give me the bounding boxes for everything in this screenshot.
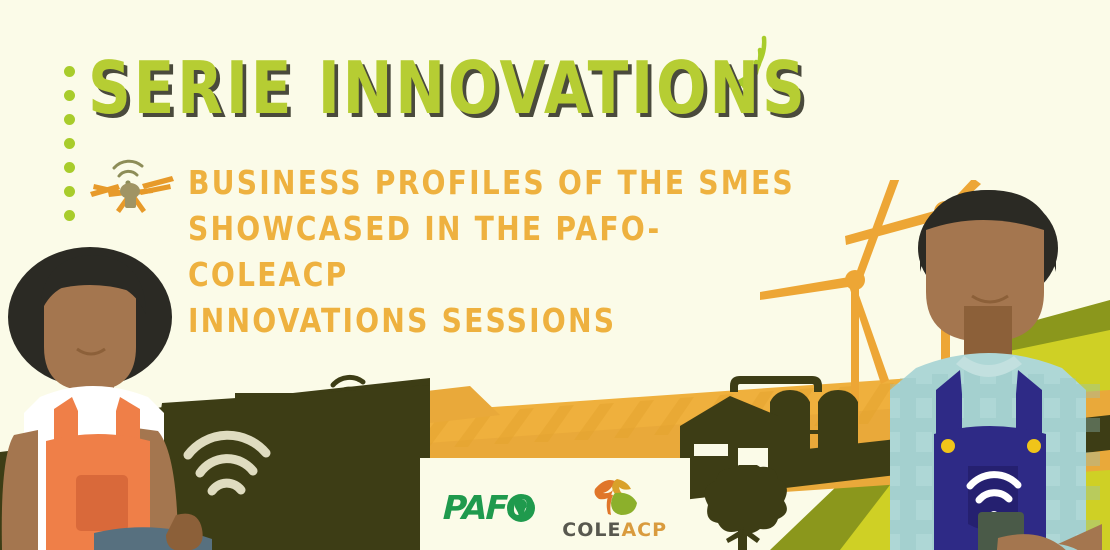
coleacp-label-primary: COLE <box>562 519 621 541</box>
decor-dot <box>64 138 75 149</box>
decor-dot <box>64 114 75 125</box>
page-subtitle: BUSINESS PROFILES OF THE SMES SHOWCASED … <box>188 160 796 344</box>
tree-icon <box>690 465 800 550</box>
page-title: SERIE INNOVATIONS <box>88 50 714 126</box>
drone-icon <box>80 148 180 220</box>
overall-button <box>941 439 955 453</box>
title-block: SERIE INNOVATIONS <box>88 50 768 130</box>
coleacp-logo[interactable]: COLEACP <box>562 473 667 541</box>
leaf-butterfly-icon <box>587 473 643 517</box>
overall-button <box>1027 439 1041 453</box>
decor-dot <box>64 90 75 101</box>
coleacp-label-secondary: ACP <box>621 519 667 541</box>
man-farmer <box>890 178 1110 550</box>
face <box>44 285 136 391</box>
decor-dot <box>64 186 75 197</box>
wifi-icon <box>114 161 142 176</box>
decor-dot <box>64 162 75 173</box>
logo-card: PAFO COLEACP <box>420 458 690 550</box>
pocket <box>76 475 128 531</box>
decor-dot <box>64 66 75 77</box>
poster-canvas: SERIE INNOVATIONS BUSINESS PROFILES OF T… <box>0 0 1110 550</box>
pafo-label: PAFO <box>442 488 533 527</box>
pafo-logo[interactable]: PAFO <box>443 488 536 527</box>
decor-dot <box>64 210 75 221</box>
